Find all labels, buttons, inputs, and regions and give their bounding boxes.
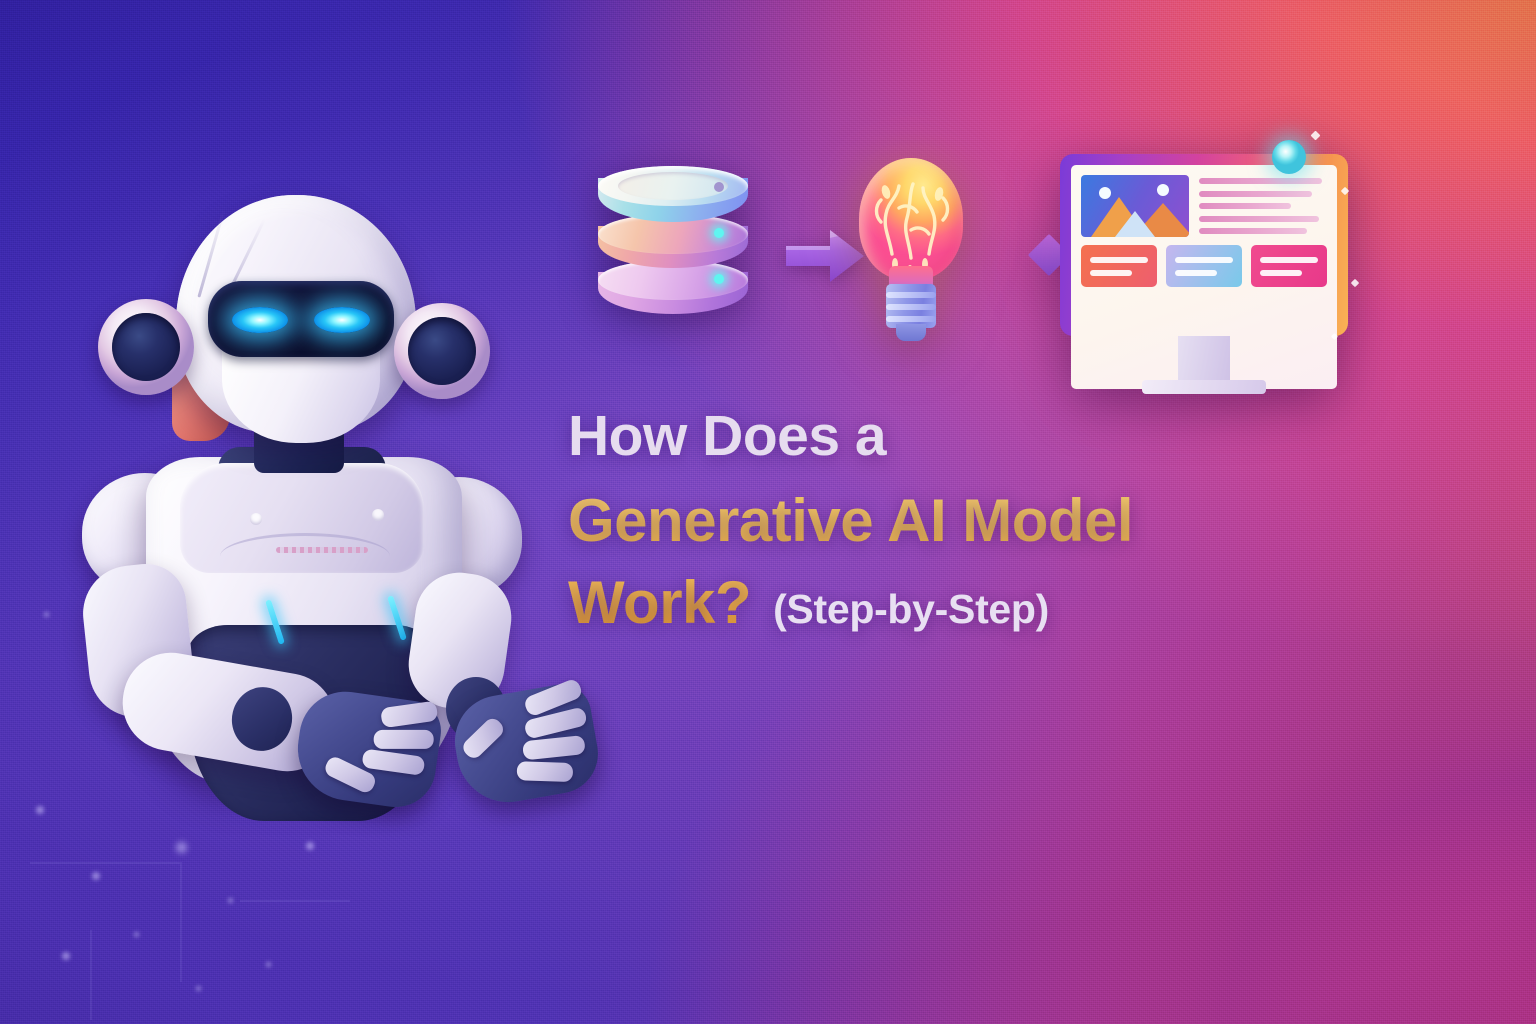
bulb-screw-thread (886, 304, 936, 310)
robot-finger (374, 730, 434, 749)
bulb-screw-thread (886, 316, 936, 322)
bulb-screw-thread (886, 292, 936, 298)
monitor-stand-base (1142, 380, 1266, 394)
robot-chest-bolt (250, 513, 262, 525)
monitor-stand-neck (1178, 336, 1230, 382)
robot-ear-inner (408, 317, 476, 385)
banner-canvas: How Does a Generative AI Model Work? (St… (0, 0, 1536, 1024)
headline-line-2: Generative AI Model (568, 491, 1328, 551)
headline-line-3-subtitle: (Step-by-Step) (773, 586, 1049, 633)
robot-eye-left (232, 307, 288, 333)
display-upper-row (1081, 175, 1327, 237)
robot-chest-bolt (372, 509, 384, 521)
mountain-image-icon (1081, 175, 1189, 237)
bulb-brain-filament (859, 158, 963, 280)
circuit-line (240, 900, 350, 902)
display-card (1081, 245, 1157, 287)
robot-eye-right (314, 307, 370, 333)
robot-finger (517, 761, 574, 782)
robot-illustration (60, 195, 620, 835)
flow-diagram (590, 150, 1350, 412)
robot-thumb (460, 715, 507, 761)
robot-finger (361, 748, 425, 775)
display-text-lines (1199, 175, 1327, 237)
robot-visor (208, 281, 394, 357)
robot-finger (522, 735, 586, 760)
headline-line-3: Work? (Step-by-Step) (568, 573, 1328, 633)
headline-line-3-main: Work? (568, 573, 751, 633)
database-led (714, 182, 724, 192)
glow-orb-icon (1272, 140, 1306, 174)
robot-chest-indicator-strip (276, 547, 368, 553)
database-disc-top (598, 166, 748, 240)
display-card-row (1081, 245, 1327, 287)
circuit-line (180, 862, 182, 982)
robot-ear-right (394, 303, 490, 399)
display-card (1166, 245, 1242, 287)
bulb-contact-tip (896, 324, 926, 341)
headline-block: How Does a Generative AI Model Work? (St… (568, 408, 1328, 633)
circuit-line (30, 862, 180, 864)
database-stack-icon (598, 160, 758, 338)
robot-finger (380, 701, 438, 729)
display-card (1251, 245, 1327, 287)
monitor-screen-icon (1060, 154, 1348, 400)
robot-ear-inner (112, 313, 180, 381)
headline-line-1: How Does a (568, 408, 1328, 465)
lightbulb-brain-icon (846, 158, 976, 348)
circuit-line (90, 930, 92, 1020)
robot-ear-left (98, 299, 194, 395)
